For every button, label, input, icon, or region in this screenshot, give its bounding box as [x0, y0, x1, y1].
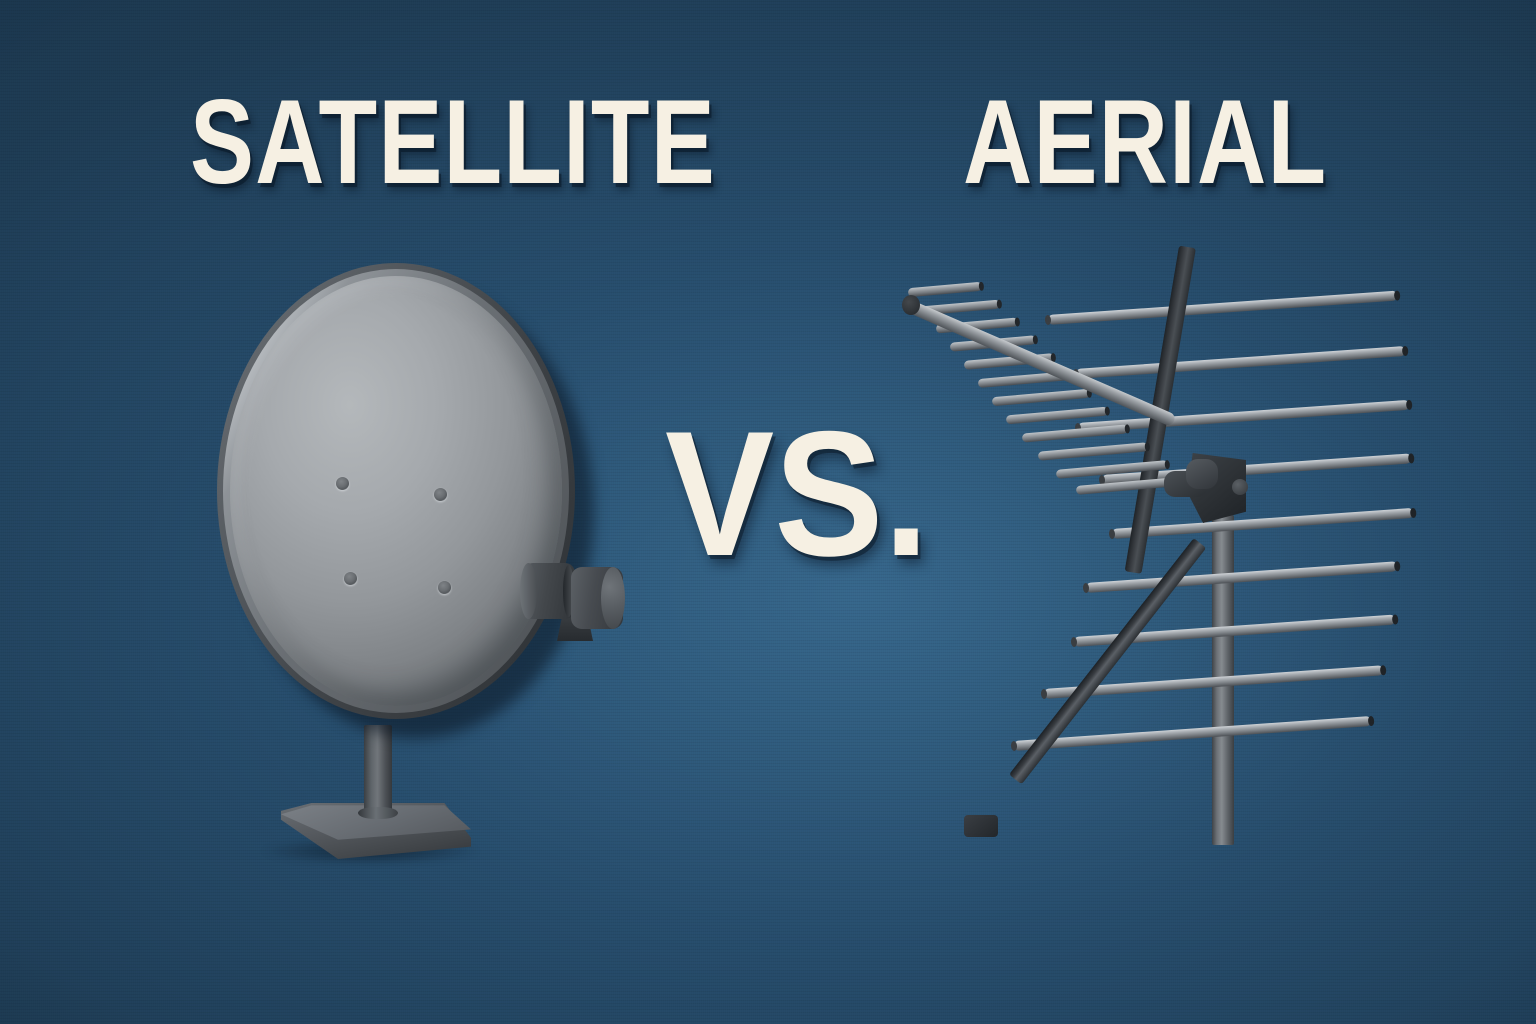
- aerial-hub-clamp: [1186, 459, 1218, 489]
- left-heading-satellite: SATELLITE: [190, 82, 716, 202]
- scene-canvas: SATELLITE AERIAL VS.: [0, 0, 1536, 1024]
- director-element: [1038, 442, 1148, 461]
- right-heading-aerial: AERIAL: [963, 82, 1327, 202]
- tv-aerial-illustration: [880, 265, 1400, 865]
- reflector-rod: [1112, 508, 1414, 539]
- dish-mast-pole: [364, 725, 392, 817]
- reflector-rod: [1076, 346, 1406, 379]
- reflector-frame-lower: [1009, 538, 1206, 784]
- versus-label: VS.: [665, 405, 929, 583]
- dish-bolt: [434, 488, 447, 501]
- dish-reflector-face: [230, 276, 562, 706]
- dish-mast-collar: [358, 807, 398, 819]
- lnb-front-cap: [601, 567, 625, 629]
- reflector-rod: [1048, 291, 1398, 325]
- lnb-rear-cap: [520, 563, 537, 619]
- aerial-hub-bolt: [1232, 479, 1248, 495]
- dish-bolt: [344, 572, 357, 585]
- aerial-boom-end-cap: [902, 295, 920, 315]
- director-element: [992, 389, 1090, 407]
- satellite-dish-illustration: [205, 245, 655, 885]
- director-element: [908, 282, 983, 297]
- dish-bolt: [336, 477, 349, 490]
- dish-bolt: [438, 581, 451, 594]
- reflector-frame-foot: [964, 815, 998, 837]
